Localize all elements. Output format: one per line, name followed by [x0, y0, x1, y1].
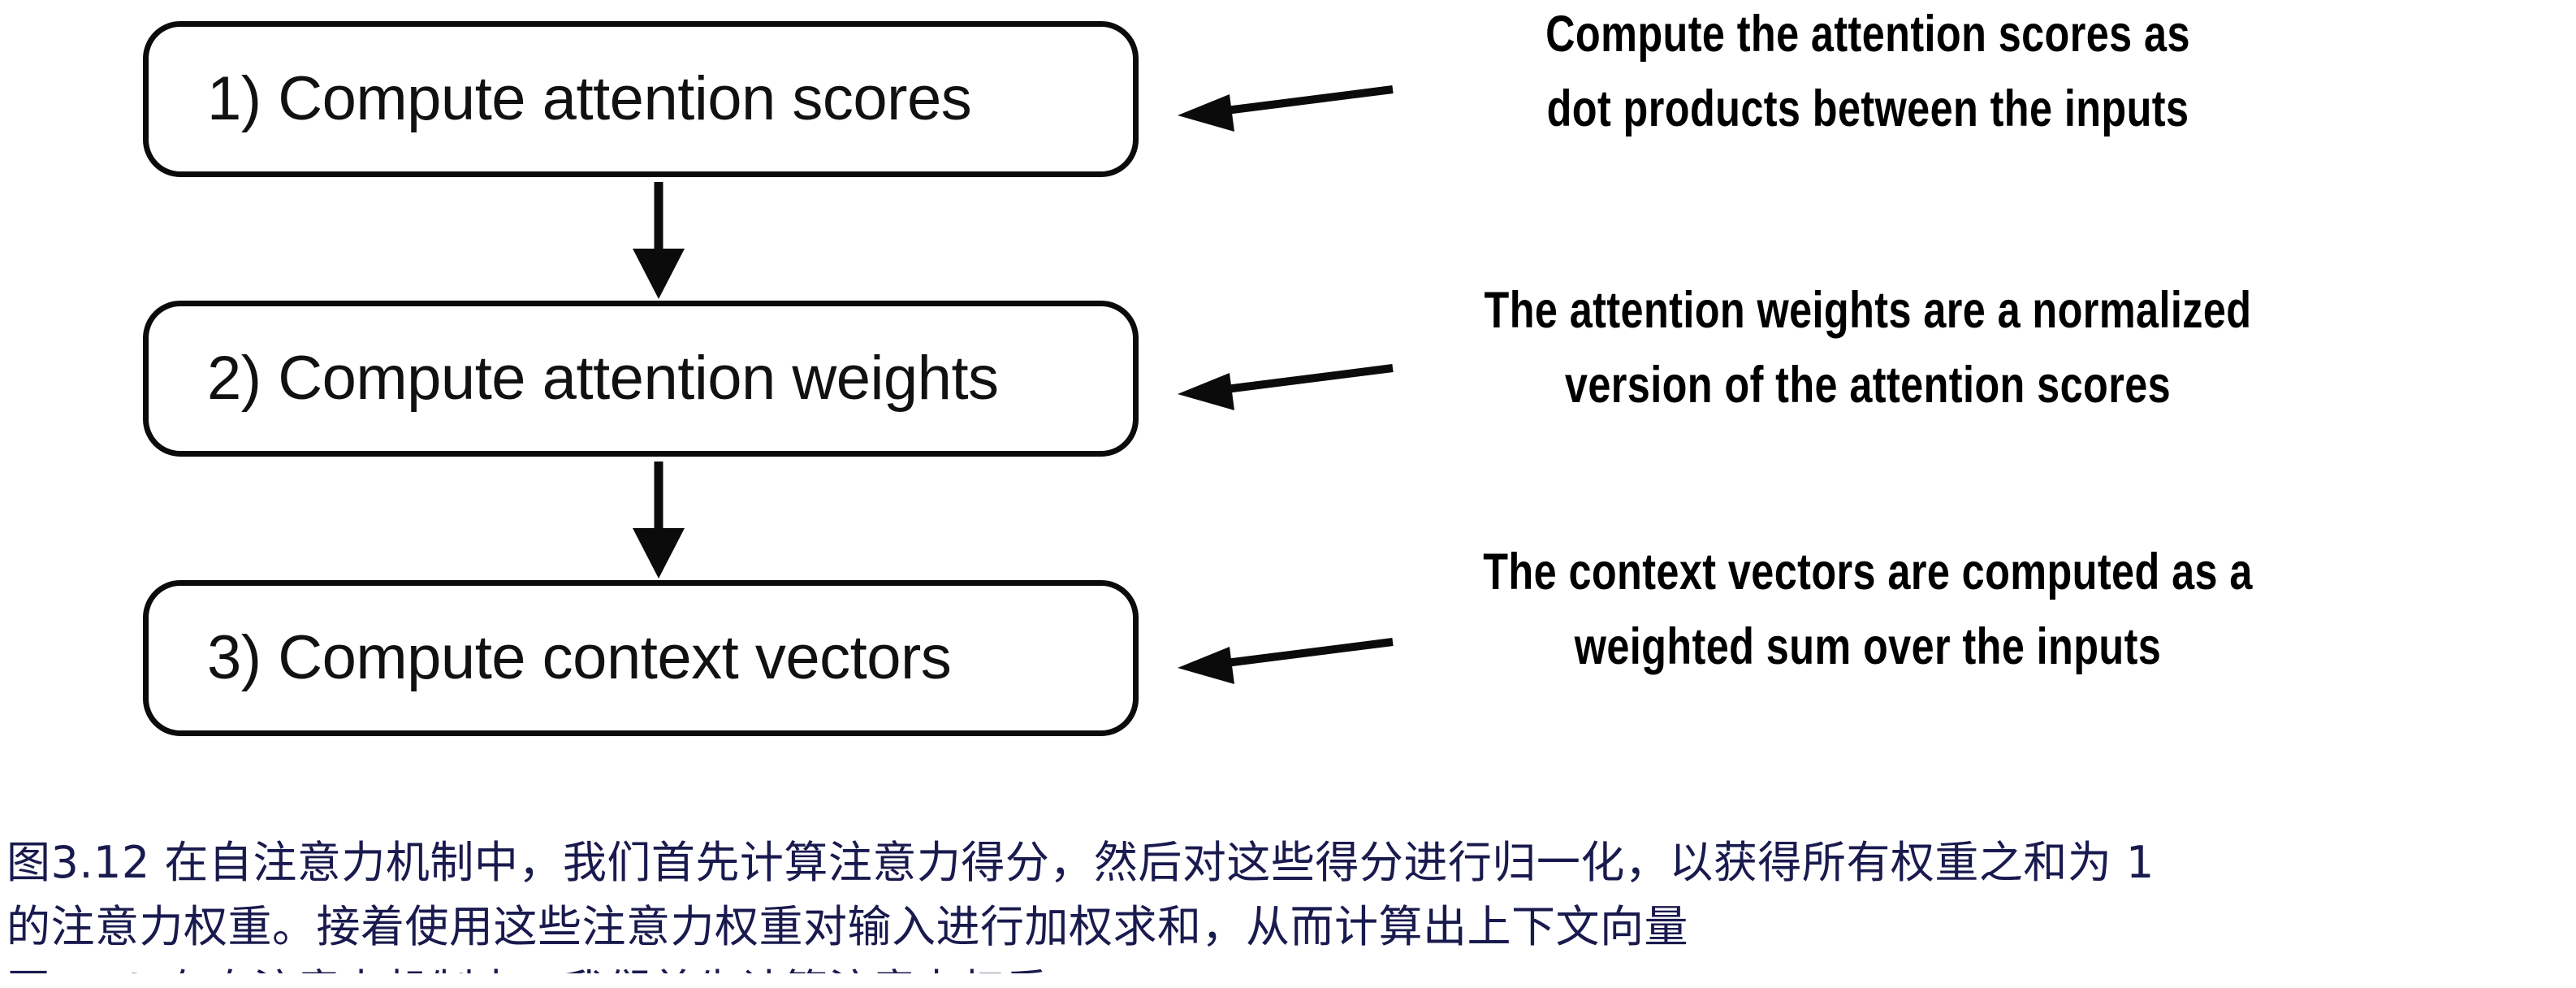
arrow-left-icon — [1169, 345, 1397, 418]
step-box-label: 1) Compute attention scores — [149, 68, 971, 130]
annotation-line: weighted sum over the inputs — [1413, 621, 2323, 673]
step-box-compute-attention-weights[interactable]: 2) Compute attention weights — [143, 301, 1139, 457]
annotation-context-vectors: The context vectors are computed as a we… — [1413, 546, 2323, 674]
annotation-attention-weights: The attention weights are a normalized v… — [1413, 284, 2323, 412]
caption-line-2: 的注意力权重。接着使用这些注意力权重对输入进行加权求和，从而计算出上下文向量 — [6, 895, 2576, 959]
annotation-line: Compute the attention scores as — [1413, 8, 2323, 60]
caption-line-3-truncated: 图3.12 在自注意力机制中，我们首先计算注意力权重 — [6, 959, 2576, 973]
step-box-compute-context-vectors[interactable]: 3) Compute context vectors — [143, 580, 1139, 736]
annotation-line: The attention weights are a normalized — [1413, 284, 2323, 336]
annotation-attention-scores: Compute the attention scores as dot prod… — [1413, 8, 2323, 136]
arrow-left-icon — [1169, 622, 1397, 695]
arrow-down-icon — [614, 458, 703, 582]
step-box-label: 3) Compute context vectors — [149, 627, 951, 689]
figure-caption: 图3.12 在自注意力机制中，我们首先计算注意力得分，然后对这些得分进行归一化，… — [6, 830, 2576, 973]
annotation-line: version of the attention scores — [1413, 359, 2323, 411]
annotation-line: The context vectors are computed as a — [1413, 546, 2323, 598]
arrow-left-icon — [1169, 65, 1397, 138]
step-box-label: 2) Compute attention weights — [149, 348, 999, 409]
arrow-down-icon — [614, 179, 703, 302]
annotation-line: dot products between the inputs — [1413, 83, 2323, 135]
caption-line-1: 图3.12 在自注意力机制中，我们首先计算注意力得分，然后对这些得分进行归一化，… — [6, 830, 2576, 895]
attention-flow-diagram: 1) Compute attention scores 2) Compute a… — [0, 0, 2576, 780]
step-box-compute-attention-scores[interactable]: 1) Compute attention scores — [143, 21, 1139, 177]
